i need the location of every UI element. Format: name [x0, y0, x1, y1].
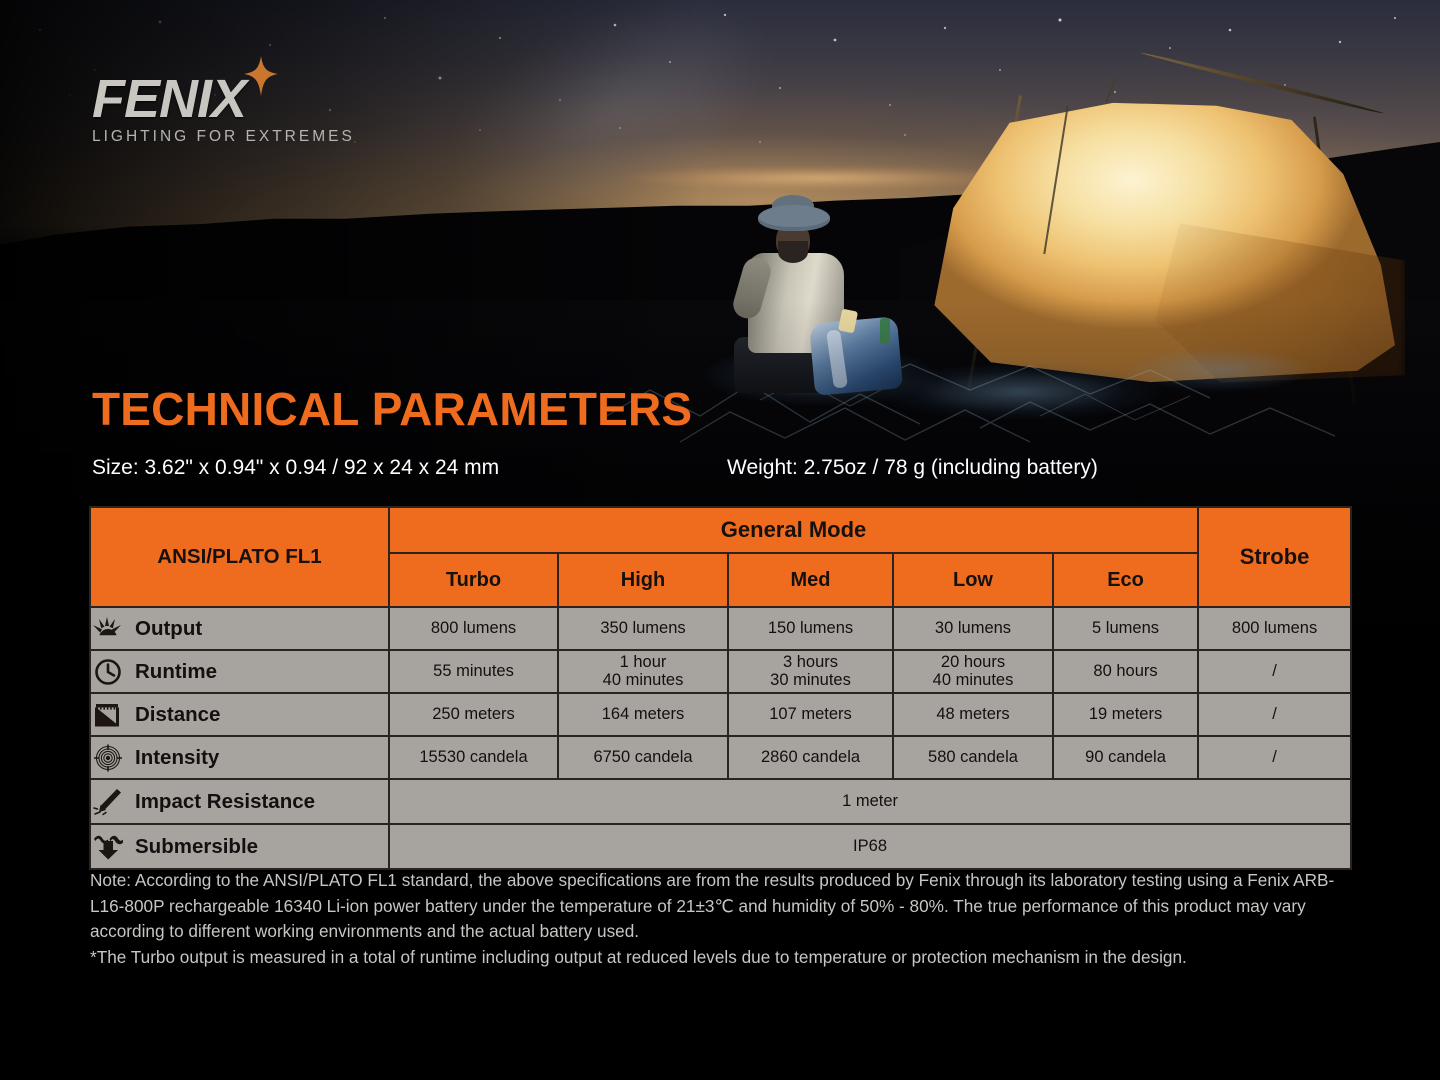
page-root: FENIX LIGHTING FOR EXTREMES TECHNICAL PA… — [0, 0, 1440, 1080]
cell-impact-resistance-value: 1 meter — [389, 779, 1351, 824]
page-title: TECHNICAL PARAMETERS — [92, 382, 692, 436]
header-strobe: Strobe — [1198, 507, 1351, 607]
cell-intensity-turbo: 15530 candela — [389, 736, 558, 779]
table-row: Impact Resistance 1 meter — [90, 779, 1351, 824]
cell-intensity-strobe: / — [1198, 736, 1351, 779]
footnote-block: Note: According to the ANSI/PLATO FL1 st… — [90, 868, 1360, 970]
submersible-icon — [91, 833, 125, 861]
weight-spec: Weight: 2.75oz / 78 g (including battery… — [727, 456, 1098, 480]
row-label-intensity: Intensity — [90, 736, 389, 779]
cell-output-low: 30 lumens — [893, 607, 1053, 650]
table-row: Output 800 lumens 350 lumens 150 lumens … — [90, 607, 1351, 650]
row-label-submersible: Submersible — [90, 824, 389, 869]
cell-intensity-high: 6750 candela — [558, 736, 728, 779]
cell-runtime-high: 1 hour40 minutes — [558, 650, 728, 693]
header-mode-low: Low — [893, 553, 1053, 607]
cell-runtime-low: 20 hours40 minutes — [893, 650, 1053, 693]
cell-runtime-med: 3 hours30 minutes — [728, 650, 893, 693]
sunburst-icon — [91, 615, 125, 643]
cell-runtime-turbo: 55 minutes — [389, 650, 558, 693]
cell-output-med: 150 lumens — [728, 607, 893, 650]
star-icon — [244, 56, 278, 96]
table-row: Distance 250 meters 164 meters 107 meter… — [90, 693, 1351, 736]
fenix-logo: FENIX LIGHTING FOR EXTREMES — [92, 72, 412, 144]
header-mode-high: High — [558, 553, 728, 607]
table-row: Submersible IP68 — [90, 824, 1351, 869]
cell-distance-strobe: / — [1198, 693, 1351, 736]
spec-table-wrapper: ANSI/PLATO FL1 General Mode Strobe Turbo… — [89, 506, 1350, 870]
row-label-text: Runtime — [135, 660, 217, 684]
row-label-text: Submersible — [135, 835, 258, 859]
cell-distance-med: 107 meters — [728, 693, 893, 736]
footnote-line-2: *The Turbo output is measured in a total… — [90, 945, 1360, 971]
cell-intensity-low: 580 candela — [893, 736, 1053, 779]
cell-intensity-med: 2860 candela — [728, 736, 893, 779]
logo-tagline: LIGHTING FOR EXTREMES — [92, 128, 412, 146]
row-label-text: Intensity — [135, 746, 219, 770]
cell-distance-high: 164 meters — [558, 693, 728, 736]
cell-distance-turbo: 250 meters — [389, 693, 558, 736]
header-ansi-plato: ANSI/PLATO FL1 — [90, 507, 389, 607]
cell-distance-low: 48 meters — [893, 693, 1053, 736]
row-label-impact-resistance: Impact Resistance — [90, 779, 389, 824]
table-row: Runtime 55 minutes 1 hour40 minutes 3 ho… — [90, 650, 1351, 693]
header-mode-med: Med — [728, 553, 893, 607]
size-spec: Size: 3.62" x 0.94" x 0.94 / 92 x 24 x 2… — [92, 456, 499, 480]
header-mode-turbo: Turbo — [389, 553, 558, 607]
cell-intensity-eco: 90 candela — [1053, 736, 1198, 779]
beam-distance-icon — [91, 701, 125, 729]
cell-runtime-strobe: / — [1198, 650, 1351, 693]
cell-output-eco: 5 lumens — [1053, 607, 1198, 650]
clock-icon — [91, 658, 125, 686]
cell-output-high: 350 lumens — [558, 607, 728, 650]
cell-distance-eco: 19 meters — [1053, 693, 1198, 736]
header-mode-eco: Eco — [1053, 553, 1198, 607]
table-row: Intensity 15530 candela 6750 candela 286… — [90, 736, 1351, 779]
row-label-text: Output — [135, 617, 202, 641]
row-label-text: Impact Resistance — [135, 790, 315, 814]
target-intensity-icon — [91, 744, 125, 772]
row-label-runtime: Runtime — [90, 650, 389, 693]
row-label-output: Output — [90, 607, 389, 650]
table-header-row-1: ANSI/PLATO FL1 General Mode Strobe — [90, 507, 1351, 553]
row-label-distance: Distance — [90, 693, 389, 736]
spec-table: ANSI/PLATO FL1 General Mode Strobe Turbo… — [89, 506, 1352, 870]
impact-hammer-icon — [91, 788, 125, 816]
row-label-text: Distance — [135, 703, 220, 727]
footnote-line-1: Note: According to the ANSI/PLATO FL1 st… — [90, 868, 1360, 945]
cell-submersible-value: IP68 — [389, 824, 1351, 869]
header-general-mode: General Mode — [389, 507, 1198, 553]
cell-runtime-eco: 80 hours — [1053, 650, 1198, 693]
cell-output-turbo: 800 lumens — [389, 607, 558, 650]
cell-output-strobe: 800 lumens — [1198, 607, 1351, 650]
